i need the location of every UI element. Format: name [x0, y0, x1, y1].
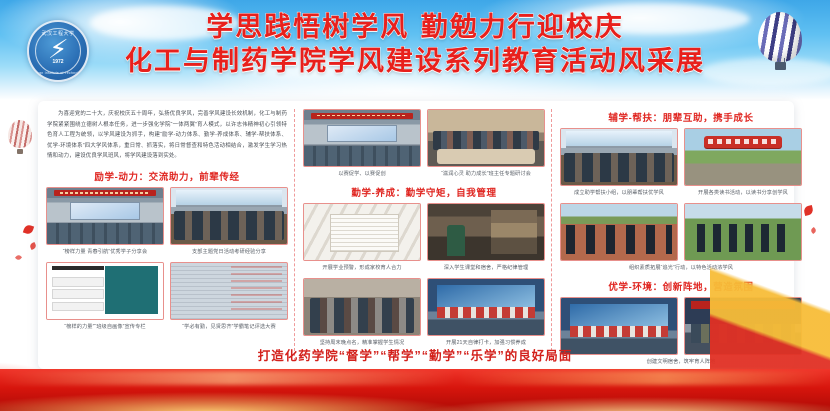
photo-red-canopy	[704, 136, 783, 148]
photo-thumbnail[interactable]	[427, 203, 545, 261]
section-title-fuxue: 辅学-帮扶：朋辈互助，携手成长	[556, 110, 806, 124]
emblem-en-name: Wuhan Institute of Technology	[29, 71, 87, 75]
cloud-decoration	[240, 52, 360, 78]
photo-figures	[433, 131, 540, 150]
photo-caption: 深入学生课堂和宿舍，严格纪律管理	[427, 264, 545, 272]
photo-cell[interactable]: 以赛促学、以赛促创	[303, 109, 421, 178]
balloon-envelope	[8, 120, 32, 148]
photo-figures	[437, 307, 534, 318]
photo-seats	[47, 223, 163, 243]
photo-cell[interactable]: 成立助学帮扶小组，以朋辈帮扶优学风	[560, 128, 678, 197]
photo-figure	[447, 225, 466, 255]
photo-scene-lecture-hall	[47, 188, 163, 244]
petal-decoration	[29, 242, 37, 250]
photo-scene-award-stage	[428, 279, 544, 335]
photo-stage-backdrop	[570, 304, 667, 329]
photo-row: “榜样力量 青春引航”优秀学子分享会 支部主题党日活动考研经验分享	[42, 187, 292, 256]
balloon-envelope	[758, 12, 802, 62]
photo-figures	[310, 298, 414, 333]
header-sky-banner: 武汉工程大学 ⚡ 1972 Wuhan Institute of Technol…	[0, 0, 830, 100]
photo-cell[interactable]: “滋润心灵 助力成长”班主任专题研讨会	[427, 109, 545, 178]
photo-caption: 开展各类读书活动，以读书分享创学风	[684, 189, 802, 197]
photo-cell[interactable]	[560, 203, 678, 261]
photo-figures	[566, 225, 673, 254]
university-emblem: 武汉工程大学 ⚡ 1972 Wuhan Institute of Technol…	[27, 20, 89, 82]
photo-caption: 以赛促学、以赛促创	[303, 170, 421, 178]
photo-thumbnail[interactable]	[303, 203, 421, 261]
photo-cell[interactable]: 开展各类读书活动，以读书分享创学风	[684, 128, 802, 197]
intro-paragraph: 为喜迎党的二十大，庆祝校庆五十周年，弘扬优良学风，完善学风建设长效机制，化工与制…	[42, 107, 292, 162]
photo-scene-running-track	[561, 204, 677, 260]
photo-banner-strip	[54, 190, 156, 196]
photo-thumbnail[interactable]	[427, 109, 545, 167]
photo-caption: 成立助学帮扶小组，以朋辈帮扶优学风	[560, 189, 678, 197]
section-title-lixue: 励学-动力：交流助力，前辈传经	[42, 169, 292, 183]
petal-decoration	[15, 254, 22, 261]
photo-scene-dormitory	[428, 204, 544, 260]
photo-table	[437, 149, 534, 164]
photo-row: 以赛促学、以赛促创 “滋润心灵 助力成长”班主任专题研讨会	[299, 109, 549, 178]
photo-scene-outdoor-booth	[685, 129, 801, 185]
footer-slogan: 打造化药学院“督学”“帮学”“勤学”“乐学”的良好局面	[0, 345, 830, 369]
photo-caption: 支部主题党日活动考研经验分享	[170, 248, 288, 256]
photo-figures	[564, 153, 673, 182]
photo-row: 开展学业预警，形成家校育人合力 深入学生课堂和宿舍，严格纪律管理	[299, 203, 549, 272]
photo-caption: “榜样力量 青春引航”优秀学子分享会	[46, 248, 164, 256]
photo-thumbnail[interactable]	[684, 128, 802, 186]
photo-figures	[570, 326, 667, 337]
photo-scene-meeting-room	[428, 110, 544, 166]
photo-row: 成立助学帮扶小组，以朋辈帮扶优学风 开展各类读书活动，以读书分享创学风	[556, 128, 806, 197]
photo-cell[interactable]: 深入学生课堂和宿舍，严格纪律管理	[427, 203, 545, 272]
photo-scene-roll-call	[304, 279, 420, 335]
photo-thumbnail[interactable]	[560, 128, 678, 186]
photo-scene-competition-hall	[304, 110, 420, 166]
photo-cell[interactable]: 坚持周末晚点名，精准掌握学生情况	[303, 278, 421, 347]
photo-projection-screen	[70, 202, 140, 220]
photo-thumbnail[interactable]	[427, 278, 545, 336]
hot-air-balloon-icon	[758, 12, 806, 84]
photo-scene-documents	[304, 204, 420, 260]
photo-heading-bar	[52, 266, 104, 270]
cloud-decoration	[90, 6, 240, 40]
photo-scene-peer-tutoring	[561, 129, 677, 185]
cloud-decoration	[560, 4, 750, 34]
photo-window	[566, 131, 673, 148]
photo-cell[interactable]: 开展学业预警，形成家校育人合力	[303, 203, 421, 272]
photo-thumbnail[interactable]	[46, 187, 164, 245]
photo-figures	[174, 211, 283, 240]
photo-thumbnail[interactable]	[303, 278, 421, 336]
photo-cell[interactable]: “榜样力量 青春引航”优秀学子分享会	[46, 187, 164, 256]
emblem-year: 1972	[29, 59, 87, 65]
section-title-qinxue: 勤学-养成：勤学守矩，自我管理	[299, 185, 549, 199]
photo-thumbnail[interactable]	[560, 203, 678, 261]
balloon-basket	[775, 62, 786, 70]
photo-projection-screen	[327, 125, 397, 143]
photo-thumbnail[interactable]	[303, 109, 421, 167]
photo-cell[interactable]: 支部主题党日活动考研经验分享	[170, 187, 288, 256]
exhibition-board: 武汉工程大学 ⚡ 1972 Wuhan Institute of Technol…	[0, 0, 830, 411]
photo-banner-strip	[311, 113, 413, 119]
photo-stage-backdrop	[437, 285, 534, 310]
bottom-red-band	[0, 369, 830, 411]
petal-decoration	[23, 224, 34, 235]
column-separator	[294, 109, 295, 361]
balloon-basket	[17, 149, 23, 154]
photo-scene-classroom	[171, 188, 287, 244]
photo-window	[176, 190, 283, 207]
photo-bunk-bed	[491, 210, 537, 255]
photo-row: 坚持周末晚点名，精准掌握学生情况 开展21天自律打卡，加强习惯养成	[299, 278, 549, 347]
photo-seats	[304, 146, 420, 166]
photo-caption: “滋润心灵 助力成长”班主任专题研讨会	[427, 170, 545, 178]
column-separator	[551, 109, 552, 361]
photo-thumbnail[interactable]	[170, 187, 288, 245]
photo-card	[52, 277, 104, 287]
column-2: 以赛促学、以赛促创 “滋润心灵 助力成长”班主任专题研讨会 勤学-养成：勤学守矩…	[299, 107, 549, 347]
small-hot-air-balloon-icon	[8, 120, 34, 160]
photo-caption: 开展学业预警，形成家校育人合力	[303, 264, 421, 272]
photo-cell[interactable]: 开展21天自律打卡，加强习惯养成	[427, 278, 545, 347]
